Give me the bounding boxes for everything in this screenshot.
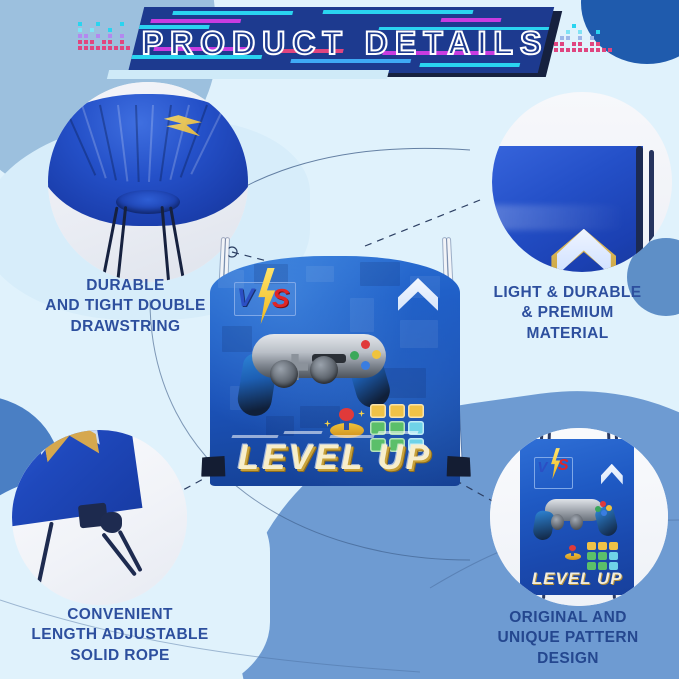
callout-label-line: CONVENIENT [10, 605, 230, 625]
bag-front-panel: V S [210, 256, 460, 486]
callout-label-line: LENGTH ADJUSTABLE [10, 625, 230, 645]
shoulder-strap [649, 150, 654, 262]
joystick-icon [565, 545, 581, 560]
pixel-dots-right [554, 24, 612, 52]
vs-letter-s: S [272, 283, 289, 314]
gamepad-button-yellow [372, 350, 381, 359]
vs-letter-s: S [558, 457, 569, 475]
gamepad-stick-right [310, 356, 338, 384]
bag-front: V S [520, 439, 634, 596]
up-arrow-icon [601, 464, 623, 490]
slogan-text: LEVEL UP [520, 569, 634, 589]
callout-label-line: UNIQUE PATTERN [462, 628, 674, 648]
joystick-icon [330, 408, 364, 438]
callout-label-line: MATERIAL [465, 324, 670, 344]
gamepad-button-red [361, 340, 370, 349]
callout-label-line: & PREMIUM [465, 303, 670, 323]
gamepad-stick-left [270, 360, 298, 388]
callout-label-line: LIGHT & DURABLE [465, 283, 670, 303]
slogan-text: LEVEL UP [210, 438, 460, 478]
callout-photo-bottom-left [12, 430, 187, 605]
callout-label-line: AND TIGHT DOUBLE [18, 296, 233, 316]
vs-letter-v: V [237, 284, 254, 313]
tetris-blocks-icon [587, 542, 627, 570]
callout-photo-top-right [492, 92, 672, 272]
callout-label-line: DESIGN [462, 649, 674, 669]
product-details-infographic: PRODUCT DETAILS [0, 0, 679, 679]
gamepad-icon [532, 492, 619, 539]
callout-label-top-right: LIGHT & DURABLE & PREMIUM MATERIAL [465, 283, 670, 344]
joystick-ball [339, 408, 354, 421]
corner-tab-right [445, 454, 474, 479]
page-title: PRODUCT DETAILS [130, 5, 560, 81]
header-banner: PRODUCT DETAILS [130, 5, 560, 81]
corner-tab-left [199, 454, 228, 479]
callout-label-bottom-right: ORIGINAL AND UNIQUE PATTERN DESIGN [462, 608, 674, 669]
callout-label-bottom-left: CONVENIENT LENGTH ADJUSTABLE SOLID ROPE [10, 605, 230, 666]
callout-label-line: DURABLE [18, 276, 233, 296]
vs-letter-v: V [537, 459, 547, 476]
callout-label-line: DRAWSTRING [18, 317, 233, 337]
sparkle-icon [358, 410, 365, 417]
callout-label-line: SOLID ROPE [10, 646, 230, 666]
gamepad-button-green [350, 351, 359, 360]
main-product-image: V S [196, 238, 476, 493]
callout-photo-bottom-right: V S [490, 428, 668, 606]
callout-label-line: ORIGINAL AND [462, 608, 674, 628]
callout-label-top-left: DURABLE AND TIGHT DOUBLE DRAWSTRING [18, 276, 233, 337]
pixel-dots-left [78, 22, 130, 50]
gamepad-button-blue [361, 361, 370, 370]
shoulder-strap [636, 146, 643, 265]
gamepad-icon [234, 322, 404, 412]
